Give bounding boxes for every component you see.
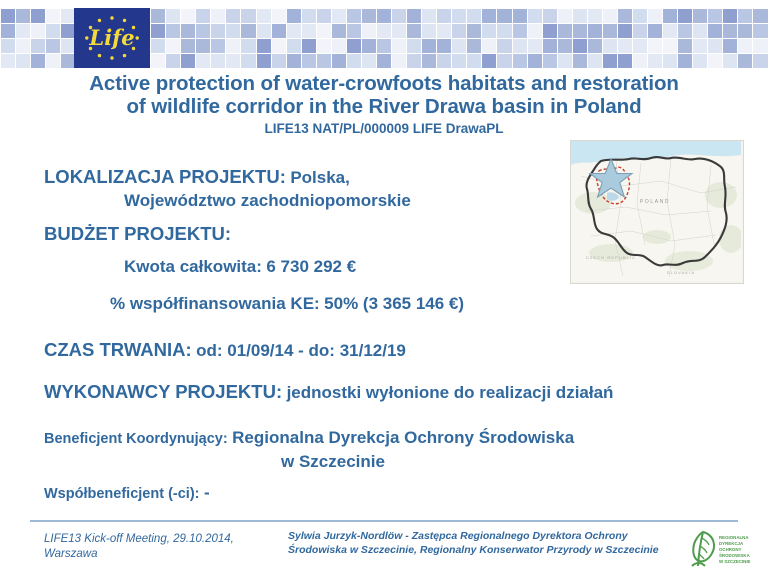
mosaic-tile — [618, 9, 632, 23]
mosaic-tile — [61, 54, 75, 68]
mosaic-tile — [452, 54, 466, 68]
mosaic-tile — [603, 24, 617, 38]
mosaic-tile — [588, 9, 602, 23]
mosaic-tile — [226, 54, 240, 68]
svg-text:W SZCZECINIE: W SZCZECINIE — [719, 559, 751, 564]
mosaic-tile — [332, 54, 346, 68]
mosaic-tile — [317, 24, 331, 38]
mosaic-tile — [648, 39, 662, 53]
mosaic-tile — [693, 39, 707, 53]
mosaic-tile — [46, 24, 60, 38]
mosaic-tile — [332, 39, 346, 53]
mosaic-tile — [543, 54, 557, 68]
svg-text:POLAND: POLAND — [640, 199, 670, 205]
mosaic-tile — [558, 24, 572, 38]
mosaic-tile — [753, 39, 767, 53]
mosaic-tile — [151, 9, 165, 23]
duration-label: CZAS TRWANIA: — [44, 339, 192, 360]
mosaic-tile — [181, 9, 195, 23]
mosaic-tile — [678, 54, 692, 68]
mosaic-tile — [708, 9, 722, 23]
mosaic-tile — [603, 54, 617, 68]
mosaic-tile — [46, 9, 60, 23]
mosaic-tile — [678, 24, 692, 38]
mosaic-tile — [407, 9, 421, 23]
mosaic-tile — [513, 54, 527, 68]
mosaic-tile — [513, 39, 527, 53]
title-block: Active protection of water-crowfoots hab… — [24, 72, 744, 136]
cobeneficiary-label: Współbeneficjent (-ci): — [44, 486, 199, 502]
mosaic-tile — [678, 39, 692, 53]
budget-row: BUDŻET PROJEKTU: — [44, 223, 231, 245]
location-row-2: Województwo zachodniopomorskie — [124, 191, 411, 211]
mosaic-tile — [738, 24, 752, 38]
mosaic-tile — [151, 24, 165, 38]
mosaic-tile — [467, 54, 481, 68]
mosaic-tile — [678, 9, 692, 23]
mosaic-tile — [347, 39, 361, 53]
mosaic-tile — [663, 39, 677, 53]
mosaic-tile — [693, 24, 707, 38]
mosaic-tile — [407, 39, 421, 53]
mosaic-tile — [753, 9, 767, 23]
mosaic-tile — [287, 39, 301, 53]
svg-text:REGIONALNA: REGIONALNA — [719, 535, 749, 540]
mosaic-tile — [708, 54, 722, 68]
mosaic-tile — [497, 54, 511, 68]
mosaic-tile — [211, 54, 225, 68]
mosaic-tile — [302, 24, 316, 38]
mosaic-tile — [272, 39, 286, 53]
mosaic-tile — [16, 39, 30, 53]
footer-event-info: LIFE13 Kick-off Meeting, 29.10.2014, War… — [44, 532, 284, 562]
mosaic-tile — [753, 54, 767, 68]
mosaic-tile — [211, 9, 225, 23]
mosaic-tile — [633, 54, 647, 68]
mosaic-tile — [422, 9, 436, 23]
footer-presenter-line-1: Sylwia Jurzyk-Nordlöw - Zastępca Regiona… — [288, 530, 678, 544]
mosaic-tile — [377, 54, 391, 68]
mosaic-tile — [392, 9, 406, 23]
mosaic-tile — [1, 9, 15, 23]
mosaic-tile — [573, 9, 587, 23]
mosaic-tile — [588, 24, 602, 38]
mosaic-tile — [603, 9, 617, 23]
mosaic-tile — [723, 24, 737, 38]
mosaic-tile — [196, 39, 210, 53]
mosaic-tile — [241, 9, 255, 23]
mosaic-tile — [287, 24, 301, 38]
mosaic-tile — [482, 39, 496, 53]
mosaic-tile — [618, 24, 632, 38]
footer-presenter-line-2: Środowiska w Szczecinie, Regionalny Kons… — [288, 544, 678, 558]
mosaic-tile — [633, 9, 647, 23]
mosaic-tile — [558, 54, 572, 68]
header-decorative-band: Life — [0, 8, 768, 68]
mosaic-tile — [422, 39, 436, 53]
budget-total-label: Kwota całkowita: — [124, 257, 262, 276]
mosaic-tile — [347, 54, 361, 68]
mosaic-tile — [708, 24, 722, 38]
mosaic-tile — [588, 39, 602, 53]
leaf-icon — [692, 532, 714, 566]
mosaic-tile — [196, 9, 210, 23]
mosaic-tile — [241, 39, 255, 53]
mosaic-tile — [226, 39, 240, 53]
mosaic-tile — [31, 54, 45, 68]
coordinating-beneficiary-value: Regionalna Dyrekcja Ochrony Środowiska — [232, 428, 574, 447]
mosaic-tile — [663, 24, 677, 38]
mosaic-tile — [257, 9, 271, 23]
mosaic-tile — [422, 24, 436, 38]
coordinating-beneficiary-row: Beneficjent Koordynujący: Regionalna Dyr… — [44, 428, 574, 448]
mosaic-tile — [753, 24, 767, 38]
mosaic-tile — [693, 9, 707, 23]
mosaic-tile — [738, 9, 752, 23]
mosaic-tile — [166, 54, 180, 68]
mosaic-tile — [16, 54, 30, 68]
mosaic-tile — [528, 39, 542, 53]
coordinating-beneficiary-value-2: w Szczecinie — [281, 452, 385, 471]
mosaic-tile — [226, 24, 240, 38]
mosaic-tile — [573, 39, 587, 53]
mosaic-tile — [723, 39, 737, 53]
mosaic-tile — [302, 9, 316, 23]
mosaic-tile — [543, 24, 557, 38]
mosaic-tile — [573, 24, 587, 38]
mosaic-tile — [467, 39, 481, 53]
mosaic-tile — [497, 24, 511, 38]
project-code: LIFE13 NAT/PL/000009 LIFE DrawaPL — [24, 121, 744, 136]
budget-total-row: Kwota całkowita: 6 730 292 € — [124, 257, 356, 277]
mosaic-tile — [272, 24, 286, 38]
mosaic-tile — [693, 54, 707, 68]
contractors-row: WYKONAWCY PROJEKTU: jednostki wyłonione … — [44, 381, 613, 403]
mosaic-tile — [663, 54, 677, 68]
contractors-label: WYKONAWCY PROJEKTU: — [44, 381, 282, 402]
mosaic-tile — [151, 39, 165, 53]
mosaic-tile — [407, 24, 421, 38]
mosaic-tile — [362, 9, 376, 23]
mosaic-tile — [482, 9, 496, 23]
mosaic-tile — [618, 54, 632, 68]
mosaic-tile — [392, 39, 406, 53]
mosaic-tile — [181, 39, 195, 53]
footer-divider — [30, 520, 738, 522]
mosaic-tile — [16, 24, 30, 38]
mosaic-tile — [528, 9, 542, 23]
mosaic-tile — [181, 54, 195, 68]
mosaic-tile — [347, 9, 361, 23]
mosaic-tile — [708, 39, 722, 53]
mosaic-tile — [482, 54, 496, 68]
mosaic-tile — [332, 24, 346, 38]
mosaic-tile — [407, 54, 421, 68]
mosaic-tile — [196, 54, 210, 68]
svg-text:SLOVAKIA: SLOVAKIA — [667, 270, 695, 275]
mosaic-tile — [497, 39, 511, 53]
cobeneficiary-value: - — [204, 483, 210, 502]
mosaic-tile — [166, 9, 180, 23]
mosaic-tile — [422, 54, 436, 68]
mosaic-tile — [16, 9, 30, 23]
mosaic-tile — [738, 54, 752, 68]
budget-cofinancing-value: 50% (3 365 146 €) — [324, 294, 464, 313]
mosaic-tile — [257, 54, 271, 68]
page-title-line-1: Active protection of water-crowfoots hab… — [24, 72, 744, 95]
footer-event-line-2: Warszawa — [44, 547, 284, 562]
mosaic-tile — [166, 39, 180, 53]
mosaic-tile — [61, 9, 75, 23]
mosaic-tile — [528, 54, 542, 68]
mosaic-tile — [633, 24, 647, 38]
duration-value: od: 01/09/14 - do: 31/12/19 — [196, 341, 406, 360]
mosaic-tile — [738, 39, 752, 53]
mosaic-tile — [513, 9, 527, 23]
mosaic-tile — [558, 9, 572, 23]
mosaic-tile — [211, 24, 225, 38]
mosaic-tile — [467, 24, 481, 38]
mosaic-tile — [302, 54, 316, 68]
coordinating-beneficiary-row-2: w Szczecinie — [281, 452, 385, 472]
mosaic-tile — [377, 39, 391, 53]
cobeneficiary-row: Współbeneficjent (-ci): - — [44, 483, 210, 503]
mosaic-tile — [166, 24, 180, 38]
mosaic-tile — [317, 39, 331, 53]
mosaic-tile — [618, 39, 632, 53]
coordinating-beneficiary-label: Beneficjent Koordynujący: — [44, 431, 228, 447]
mosaic-tile — [528, 24, 542, 38]
mosaic-tile — [347, 24, 361, 38]
mosaic-tile — [196, 24, 210, 38]
footer-event-line-1: LIFE13 Kick-off Meeting, 29.10.2014, — [44, 532, 284, 547]
mosaic-tile — [663, 9, 677, 23]
location-value-2: Województwo zachodniopomorskie — [124, 191, 411, 210]
mosaic-tile — [362, 24, 376, 38]
mosaic-tile — [46, 54, 60, 68]
mosaic-tile — [633, 39, 647, 53]
svg-text:OCHRONY: OCHRONY — [719, 547, 742, 552]
svg-text:DYREKCJA: DYREKCJA — [719, 541, 744, 546]
mosaic-tile — [332, 9, 346, 23]
mosaic-tile — [1, 54, 15, 68]
contractors-value: jednostki wyłonione do realizacji działa… — [287, 383, 614, 402]
mosaic-tile — [437, 54, 451, 68]
mosaic-tile — [272, 54, 286, 68]
mosaic-tile — [257, 39, 271, 53]
mosaic-tile — [573, 54, 587, 68]
duration-row: CZAS TRWANIA: od: 01/09/14 - do: 31/12/1… — [44, 339, 406, 361]
mosaic-tile — [497, 9, 511, 23]
mosaic-tile — [452, 9, 466, 23]
mosaic-tile — [1, 24, 15, 38]
mosaic-tile — [452, 24, 466, 38]
location-label: LOKALIZACJA PROJEKTU: — [44, 166, 286, 187]
mosaic-tile — [723, 54, 737, 68]
mosaic-tile — [317, 9, 331, 23]
mosaic-tile — [362, 39, 376, 53]
mosaic-tile — [603, 39, 617, 53]
mosaic-tile — [241, 54, 255, 68]
mosaic-tile — [287, 9, 301, 23]
mosaic-tile — [1, 39, 15, 53]
mosaic-tile — [362, 54, 376, 68]
svg-text:Life: Life — [88, 25, 134, 50]
mosaic-tile — [31, 24, 45, 38]
mosaic-tile — [513, 24, 527, 38]
mosaic-tile — [377, 9, 391, 23]
mosaic-tile — [61, 24, 75, 38]
mosaic-tile — [181, 24, 195, 38]
mosaic-tile — [452, 39, 466, 53]
budget-cofinancing-row: % współfinansowania KE: 50% (3 365 146 €… — [110, 294, 464, 314]
mosaic-tile — [588, 54, 602, 68]
mosaic-tile — [392, 54, 406, 68]
mosaic-tile — [558, 39, 572, 53]
mosaic-tile — [648, 9, 662, 23]
mosaic-tile — [437, 24, 451, 38]
mosaic-tile — [31, 9, 45, 23]
mosaic-tile — [257, 24, 271, 38]
location-value: Polska, — [290, 168, 350, 187]
mosaic-tile — [61, 39, 75, 53]
budget-total-value: 6 730 292 € — [266, 257, 356, 276]
mosaic-tile — [317, 54, 331, 68]
footer-presenter-info: Sylwia Jurzyk-Nordlöw - Zastępca Regiona… — [288, 530, 678, 557]
mosaic-tile — [151, 54, 165, 68]
budget-label: BUDŻET PROJEKTU: — [44, 223, 231, 244]
mosaic-tile — [648, 24, 662, 38]
mosaic-tile — [272, 9, 286, 23]
mosaic-tile — [648, 54, 662, 68]
mosaic-tile — [211, 39, 225, 53]
mosaic-tile — [437, 39, 451, 53]
svg-text:ŚRODOWISKA: ŚRODOWISKA — [719, 553, 751, 558]
mosaic-tile — [392, 24, 406, 38]
poland-location-map: POLAND CZECH REPUBLIC SLOVAKIA — [570, 140, 744, 284]
rdos-szczecin-logo: REGIONALNA DYREKCJA OCHRONY ŚRODOWISKA W… — [683, 526, 761, 572]
mosaic-tile — [287, 54, 301, 68]
budget-cofinancing-label: % współfinansowania KE: — [110, 294, 320, 313]
mosaic-tile — [377, 24, 391, 38]
mosaic-tile — [482, 24, 496, 38]
mosaic-tile — [437, 9, 451, 23]
mosaic-tile — [226, 9, 240, 23]
mosaic-tile — [723, 9, 737, 23]
location-row: LOKALIZACJA PROJEKTU: Polska, — [44, 166, 350, 188]
page-title-line-2: of wildlife corridor in the River Drawa … — [24, 95, 744, 118]
mosaic-tile — [241, 24, 255, 38]
mosaic-tile — [46, 39, 60, 53]
mosaic-tile — [302, 39, 316, 53]
life-logo: Life — [74, 8, 150, 68]
mosaic-tile — [467, 9, 481, 23]
mosaic-tile — [31, 39, 45, 53]
svg-text:CZECH REPUBLIC: CZECH REPUBLIC — [586, 255, 636, 260]
mosaic-tile — [543, 39, 557, 53]
mosaic-tile — [543, 9, 557, 23]
